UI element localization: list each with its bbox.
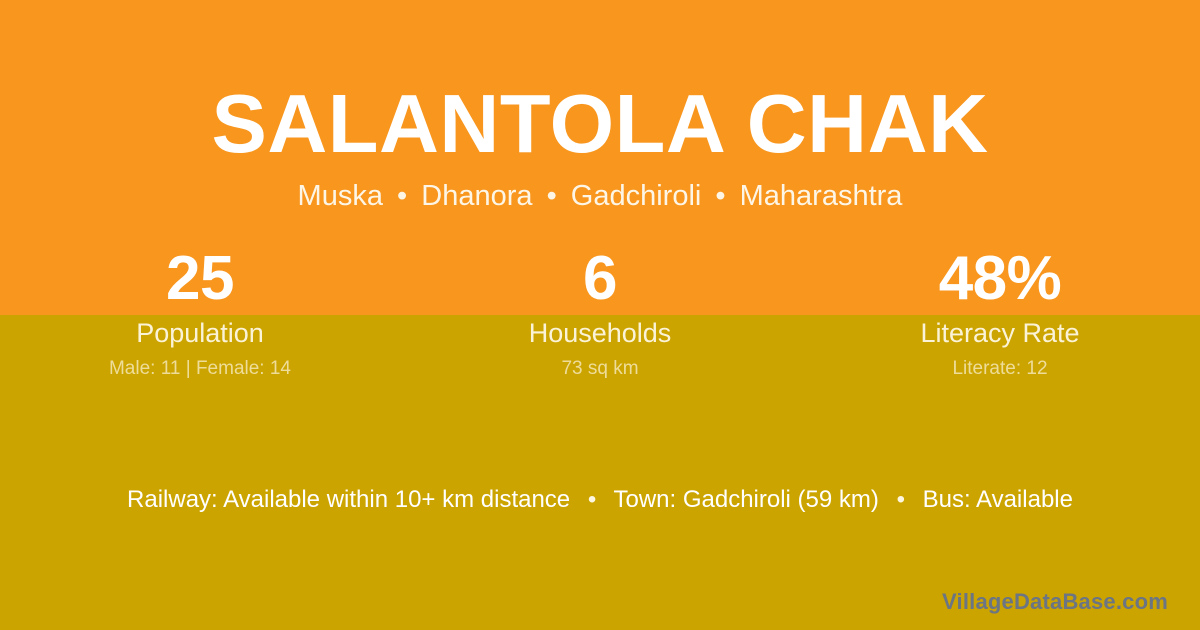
- info-separator: •: [577, 486, 607, 513]
- header: SALANTOLA CHAK Muska • Dhanora • Gadchir…: [0, 0, 1200, 214]
- stat-value-population: 25: [0, 243, 400, 315]
- breadcrumb-item-district: Gadchiroli: [571, 180, 702, 212]
- breadcrumb-item-state: Maharashtra: [740, 180, 903, 212]
- page-title: SALANTOLA CHAK: [0, 0, 1200, 172]
- breadcrumb-separator: •: [541, 180, 563, 212]
- info-separator: •: [886, 486, 916, 513]
- breadcrumb-separator: •: [391, 180, 413, 212]
- stat-label-population: Population: [0, 317, 400, 349]
- stat-sub-population: Male: 11 | Female: 14: [0, 357, 400, 381]
- village-info-card: SALANTOLA CHAK Muska • Dhanora • Gadchir…: [0, 0, 1200, 630]
- stat-population: 25 Population Male: 11 | Female: 14: [0, 243, 400, 381]
- stat-sub-literacy-rate: Literate: 12: [800, 357, 1200, 381]
- stat-value-literacy-rate: 48%: [800, 243, 1200, 315]
- breadcrumb-item-subdistrict: Muska: [298, 180, 383, 212]
- stat-households: 6 Households 73 sq km: [400, 243, 800, 381]
- info-item-town: Town: Gadchiroli (59 km): [613, 486, 878, 513]
- breadcrumb-separator: •: [709, 180, 731, 212]
- stat-label-households: Households: [400, 317, 800, 349]
- stat-sub-households: 73 sq km: [400, 357, 800, 381]
- stats-row: 25 Population Male: 11 | Female: 14 6 Ho…: [0, 243, 1200, 381]
- stat-label-literacy-rate: Literacy Rate: [800, 317, 1200, 349]
- breadcrumb: Muska • Dhanora • Gadchiroli • Maharasht…: [0, 172, 1200, 214]
- transport-info-line: Railway: Available within 10+ km distanc…: [0, 484, 1200, 516]
- stat-literacy-rate: 48% Literacy Rate Literate: 12: [800, 243, 1200, 381]
- site-brand-watermark: VillageDataBase.com: [942, 588, 1168, 616]
- info-item-railway: Railway: Available within 10+ km distanc…: [127, 486, 570, 513]
- stat-value-households: 6: [400, 243, 800, 315]
- breadcrumb-item-block: Dhanora: [421, 180, 532, 212]
- info-item-bus: Bus: Available: [923, 486, 1073, 513]
